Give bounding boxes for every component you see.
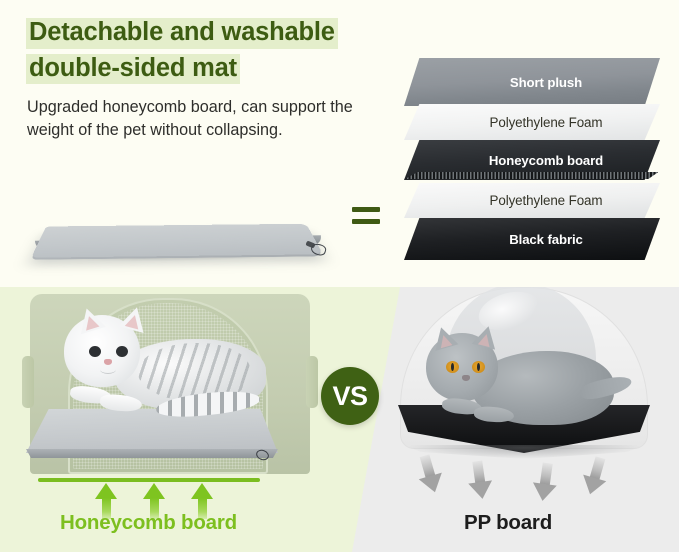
corrugated-edge bbox=[405, 172, 658, 179]
layer-honeycomb-board: Honeycomb board bbox=[404, 140, 660, 180]
cat-eye-left bbox=[446, 361, 459, 373]
cat-ear-left bbox=[430, 324, 459, 351]
layer-polyethylene-foam-bottom: Polyethylene Foam bbox=[404, 183, 660, 218]
layer-label: Honeycomb board bbox=[461, 153, 603, 168]
subtitle-text: Upgraded honeycomb board, can support th… bbox=[27, 96, 387, 143]
cat-mouth bbox=[100, 365, 116, 374]
headline-line-2: double-sided mat bbox=[26, 54, 240, 85]
page-title: Detachable and washable double-sided mat bbox=[26, 18, 396, 89]
layer-short-plush: Short plush bbox=[404, 58, 660, 106]
infographic-page: Detachable and washable double-sided mat… bbox=[0, 0, 679, 552]
headline-line-1: Detachable and washable bbox=[26, 18, 338, 49]
cat-ear-right bbox=[118, 304, 149, 333]
cat-ear-left bbox=[74, 305, 106, 335]
carrier-handle-left bbox=[22, 356, 34, 408]
equals-sign-icon bbox=[352, 205, 380, 229]
cat-head bbox=[64, 315, 140, 387]
left-caption-label: Honeycomb board bbox=[60, 511, 237, 535]
grey-plush-mat bbox=[20, 178, 340, 283]
layer-label: Black fabric bbox=[481, 232, 583, 247]
cat-ear-right bbox=[472, 323, 500, 349]
grey-british-shorthair-cat bbox=[420, 327, 632, 439]
board-shadow bbox=[404, 445, 644, 459]
layer-black-fabric: Black fabric bbox=[404, 218, 660, 260]
cat-eye-left bbox=[89, 346, 101, 357]
zipper-pull-icon bbox=[254, 449, 270, 461]
flat-support-line bbox=[38, 478, 260, 482]
cat-eye-right bbox=[472, 361, 485, 373]
layer-polyethylene-foam-top: Polyethylene Foam bbox=[404, 104, 660, 140]
cat-nose bbox=[462, 375, 470, 381]
cat-eye-right bbox=[116, 346, 128, 357]
vs-badge: VS bbox=[321, 367, 379, 425]
layer-label: Polyethylene Foam bbox=[462, 193, 603, 208]
carrier-handle-right bbox=[306, 356, 318, 408]
zipper-pull-icon bbox=[306, 241, 325, 254]
white-silver-tabby-cat bbox=[52, 309, 272, 427]
layer-label: Short plush bbox=[482, 75, 582, 90]
top-panel: Detachable and washable double-sided mat… bbox=[0, 0, 679, 287]
mat-edge bbox=[26, 449, 278, 458]
layer-stack-diagram: Short plush Polyethylene Foam Honeycomb … bbox=[404, 58, 672, 273]
layer-label: Polyethylene Foam bbox=[462, 115, 603, 130]
mat-top-surface bbox=[31, 224, 323, 258]
right-caption-label: PP board bbox=[464, 511, 552, 535]
cat-head bbox=[426, 333, 498, 401]
